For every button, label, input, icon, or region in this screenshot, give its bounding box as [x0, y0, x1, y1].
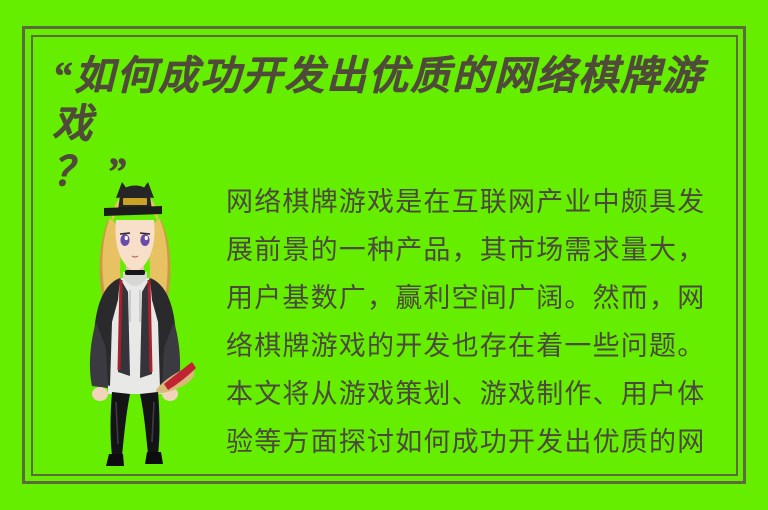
- eyebrow-right: [140, 233, 150, 234]
- article-body: 网络棋牌游戏是在互联网产业中颇具发 展前景的一种产品，其市场需求量大， 用户基数…: [226, 178, 738, 466]
- jacket-trim-left: [119, 280, 121, 370]
- eyebrow-left: [120, 233, 130, 234]
- article-line: 网络棋牌游戏是在互联网产业中颇具发: [226, 178, 738, 226]
- hand-left: [92, 387, 108, 401]
- boot-left: [106, 454, 124, 466]
- article-line: 验等方面探讨如何成功开发出优质的网: [226, 418, 738, 466]
- choker: [125, 270, 145, 275]
- article-line: 本文将从游戏策划、游戏制作、用户体: [226, 370, 738, 418]
- jacket-trim-right: [149, 280, 151, 372]
- eye-left-highlight: [125, 236, 128, 240]
- article-line: 用户基数广，赢利空间广阔。然而，网: [226, 274, 738, 322]
- cap-brim: [104, 206, 162, 216]
- face: [116, 220, 155, 272]
- poster-canvas: “如何成功开发出优质的网络棋牌游戏 ？ ” 网络棋牌游戏是在互联网产业中颇具发 …: [0, 0, 768, 510]
- boot-right: [145, 452, 163, 464]
- leggings-right: [140, 392, 160, 454]
- title-line-1: “如何成功开发出优质的网络棋牌游戏: [52, 52, 742, 148]
- anime-girl-illustration: [60, 172, 210, 472]
- article-line: 展前景的一种产品，其市场需求量大，: [226, 226, 738, 274]
- eye-right: [140, 234, 149, 246]
- article-line: 络棋牌游戏的开发也存在着一些问题。: [226, 322, 738, 370]
- leggings-left: [111, 392, 131, 456]
- eye-right-highlight: [145, 236, 148, 240]
- cap-logo: [123, 198, 147, 205]
- eye-left: [120, 234, 129, 246]
